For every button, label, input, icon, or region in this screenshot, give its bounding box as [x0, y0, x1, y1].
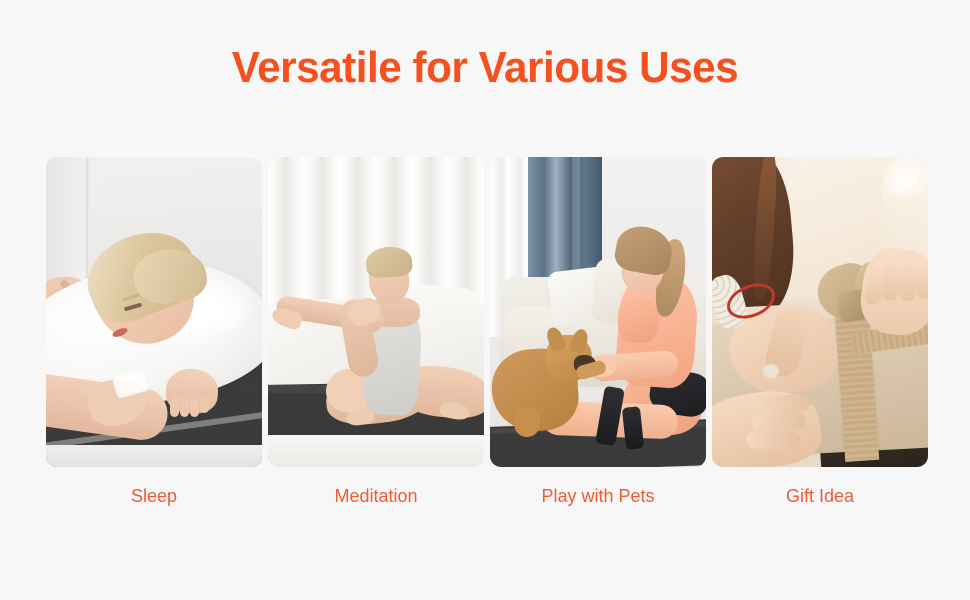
- finger: [200, 395, 209, 413]
- finger: [746, 430, 801, 450]
- dog-hind-leg: [514, 407, 540, 437]
- gift-idea-photo: [712, 157, 928, 467]
- ring: [764, 365, 778, 377]
- sleep-photo: [46, 157, 262, 467]
- sleeve: [618, 297, 658, 343]
- use-case-card-gift-idea[interactable]: Gift Idea: [712, 157, 928, 508]
- finger: [752, 412, 807, 432]
- page-title: Versatile for Various Uses: [19, 42, 950, 94]
- use-case-card-play-with-pets[interactable]: Play with Pets: [490, 157, 706, 508]
- card-caption-play-with-pets: Play with Pets: [541, 484, 654, 508]
- light-glow: [882, 159, 928, 199]
- finger: [180, 395, 189, 417]
- play-with-pets-photo: [490, 157, 706, 467]
- finger: [755, 393, 810, 415]
- card-caption-meditation: Meditation: [334, 484, 417, 508]
- meditation-photo: [268, 157, 484, 467]
- floor: [46, 445, 262, 467]
- finger: [190, 395, 199, 417]
- card-caption-gift-idea: Gift Idea: [786, 484, 854, 508]
- use-case-card-sleep[interactable]: Sleep: [46, 157, 262, 508]
- finger: [915, 261, 928, 300]
- promo-banner: Versatile for Various Uses: [0, 0, 970, 600]
- finger: [170, 395, 179, 417]
- bed-base: [268, 435, 484, 467]
- use-case-card-meditation[interactable]: Meditation: [268, 157, 484, 508]
- use-case-card-list: Sleep: [46, 157, 924, 508]
- card-caption-sleep: Sleep: [131, 484, 177, 508]
